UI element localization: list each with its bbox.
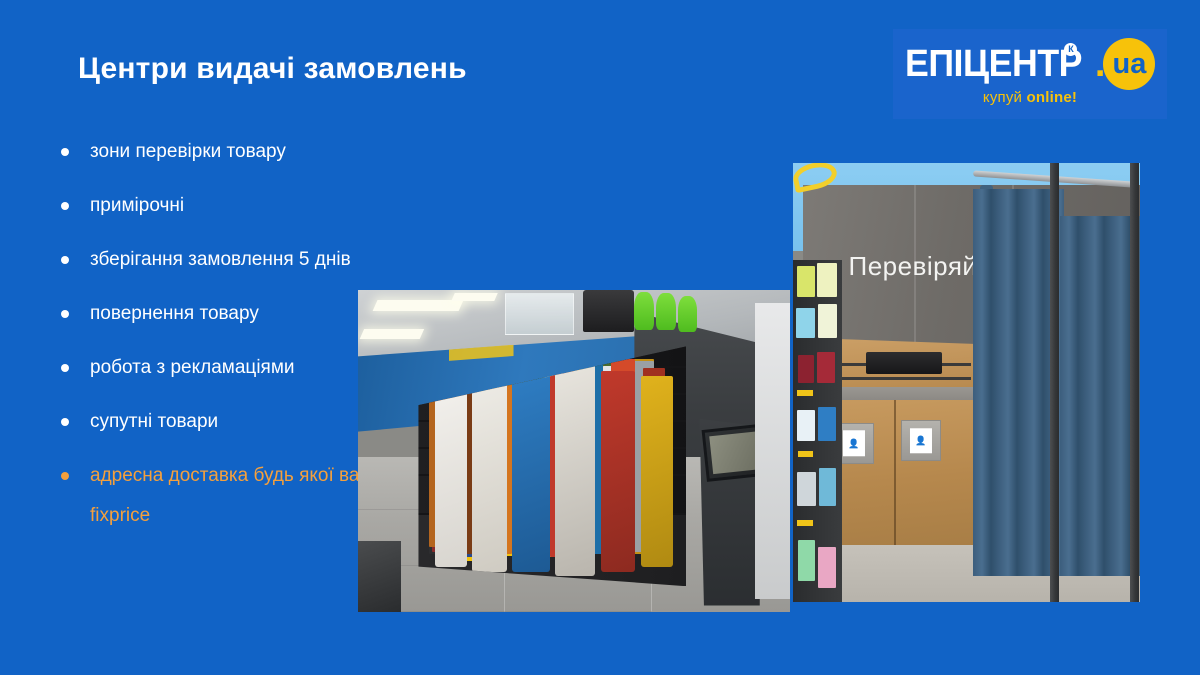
list-item: зони перевірки товару (54, 132, 384, 172)
list-item: примірочні (54, 186, 384, 226)
bullet-dot-icon (61, 202, 69, 210)
green-bottle (678, 296, 697, 331)
entrance-glass-panel (755, 303, 790, 599)
side-shelving (793, 260, 842, 602)
logo-tagline-bold: online! (1027, 89, 1078, 106)
list-item-highlighted: адресна доставка будь якої ваги fixprice (54, 456, 384, 536)
bullet-dot-icon (61, 364, 69, 372)
bullet-dot-icon (61, 310, 69, 318)
logo-tagline: купуй online! (983, 89, 1077, 106)
wall-text-pereviryai: Перевіряй (849, 251, 978, 282)
list-item-label: супутні товари (90, 411, 218, 432)
list-item: робота з рекламаціями (54, 348, 384, 388)
barcode-scanner-bar (866, 352, 942, 374)
list-item-label: робота з рекламаціями (90, 357, 295, 378)
photo-fitting-rooms: Перевіряй 👤 👤 (793, 163, 1140, 602)
green-bottle (634, 292, 653, 331)
bullet-dot-icon (61, 256, 69, 264)
cabinet-info-plate-right: 👤 (901, 420, 941, 461)
bullet-dot-icon (61, 472, 69, 480)
list-item: супутні товари (54, 402, 384, 442)
logo-wordmark: ЕПІЦЕНТР (905, 43, 1082, 86)
list-item-label: зони перевірки товару (90, 141, 286, 162)
logo-domain-badge: ua (1103, 38, 1155, 90)
brand-logo: ЕПІЦЕНТР К . ua купуй online! (893, 29, 1167, 119)
slide-root: Центри видачі замовлень зони перевірки т… (0, 0, 1200, 675)
cabin-post (1050, 163, 1059, 602)
list-item-label: примірочні (90, 195, 184, 216)
list-item-label: адресна доставка будь якої ваги fixprice (90, 465, 377, 526)
fitting-room-curtain-right[interactable] (1060, 216, 1140, 576)
ceiling-lamp (451, 293, 498, 301)
floor-display-box (358, 541, 401, 612)
list-item-label: зберігання замовлення 5 днів (90, 249, 351, 270)
bullet-dot-icon (61, 418, 69, 426)
page-title: Центри видачі замовлень (78, 52, 467, 86)
photo-store-aisle (358, 290, 790, 612)
feature-bullet-list: зони перевірки товару примірочні зберіга… (54, 132, 384, 550)
stacked-baskets (505, 293, 574, 335)
person-pictogram-icon: 👤 (843, 431, 865, 456)
ceiling-lamp (360, 329, 425, 339)
bullet-dot-icon (61, 148, 69, 156)
list-item: зберігання замовлення 5 днів (54, 240, 384, 280)
ceiling-lamp (373, 300, 464, 311)
logo-tagline-regular: купуй (983, 89, 1027, 106)
black-bin (583, 290, 635, 332)
green-bottle (656, 293, 675, 330)
logo-wordmark-row: ЕПІЦЕНТР К . ua (905, 42, 1156, 86)
list-item: повернення товару (54, 294, 384, 334)
list-item-label: повернення товару (90, 303, 259, 324)
counter-cabinet: 👤 👤 (821, 400, 988, 545)
person-pictogram-icon: 👤 (910, 428, 932, 453)
cabin-post (1130, 163, 1139, 602)
